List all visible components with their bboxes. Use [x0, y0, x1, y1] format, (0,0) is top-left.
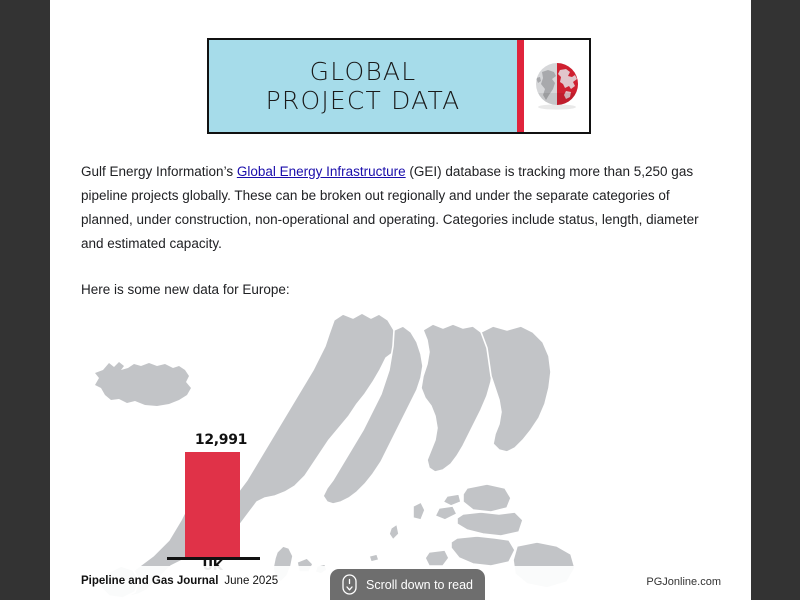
global-energy-infrastructure-link[interactable]: Global Energy Infrastructure [237, 164, 406, 179]
body-paragraph-1: Gulf Energy Information’s Global Energy … [81, 160, 723, 256]
europe-pipeline-figure: 12,991 UK [81, 300, 721, 600]
footer-website: PGJonline.com [646, 576, 721, 588]
gei-globe-logo-icon [530, 59, 584, 113]
footer-issue-date: June 2025 [224, 575, 278, 587]
bar-uk [185, 452, 240, 558]
footer-publication-name: Pipeline and Gas Journal [81, 575, 218, 587]
body-paragraph-2: Here is some new data for Europe: [81, 278, 723, 302]
document-sheet: GLOBAL PROJECT DATA [50, 0, 751, 600]
banner-title-line-1: GLOBAL [310, 57, 417, 87]
scroll-down-to-read-button[interactable]: Scroll down to read [330, 569, 485, 600]
body-paragraph-1-part-1: Gulf Energy Information’s [81, 164, 237, 179]
mouse-scroll-down-icon [342, 574, 357, 595]
viewer-chrome-right [751, 0, 800, 600]
banner-title-area: GLOBAL PROJECT DATA [209, 40, 517, 132]
bar-value-label: 12,991 [186, 432, 256, 448]
banner-logo-area [524, 40, 589, 132]
europe-basemap [81, 300, 721, 600]
banner-title-line-2: PROJECT DATA [266, 86, 461, 116]
viewer-chrome-left [0, 0, 50, 600]
screenshot-root: GLOBAL PROJECT DATA [0, 0, 800, 600]
banner-red-stripe [517, 40, 524, 132]
footer-publication-block: Pipeline and Gas JournalJune 2025 [81, 575, 278, 587]
scroll-pill-label: Scroll down to read [366, 578, 473, 592]
global-project-data-banner: GLOBAL PROJECT DATA [207, 38, 591, 134]
